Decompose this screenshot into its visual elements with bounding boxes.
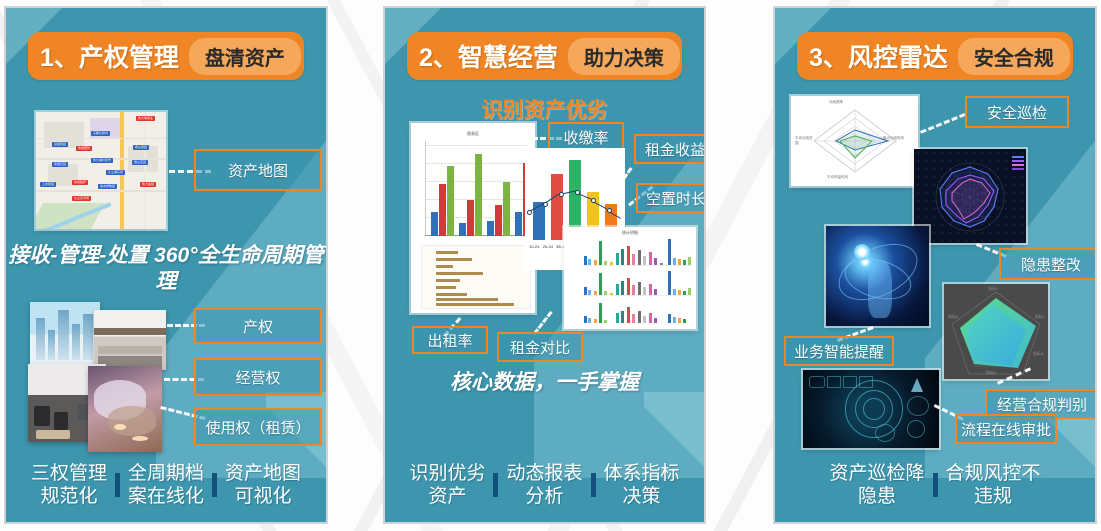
- panel-3-footer: 资产巡检降 隐患 合规风控不 违规: [775, 462, 1095, 508]
- callout-rent-comparison-label: 租金对比: [510, 337, 570, 358]
- callout-rent-comparison[interactable]: 租金对比: [497, 332, 583, 362]
- callout-vacancy-duration[interactable]: 空置时长: [636, 183, 706, 213]
- callout-smart-reminder-label: 业务智能提醒: [794, 341, 884, 362]
- panel-risk-control-radar[interactable]: 3、风控雷达 安全合规 动用频率 最近动用时间 平均动用范围 平均停: [773, 6, 1097, 524]
- dark-radar-chart[interactable]: [914, 149, 1026, 243]
- panel-2-tag: 助力决策: [568, 38, 680, 75]
- shopping-mall-photo[interactable]: [88, 366, 162, 452]
- city-skyline-photo[interactable]: [30, 302, 100, 370]
- grouped-bar-chart-card[interactable]: 图表区: [411, 123, 535, 313]
- chart-title: 统计明细: [564, 230, 696, 236]
- callout-online-process-approval[interactable]: 流程在线审批: [955, 414, 1057, 444]
- panel-2-title: 2、智慧经营: [419, 38, 558, 74]
- callout-hazard-rectification[interactable]: 隐患整改: [999, 248, 1097, 280]
- callout-asset-map[interactable]: 资产地图: [194, 149, 322, 191]
- callout-safety-inspection-label: 安全巡检: [987, 102, 1047, 123]
- callout-vacancy-duration-label: 空置时长: [646, 188, 706, 209]
- panel-2-slogan: 核心数据，一手掌握: [385, 370, 704, 396]
- callout-collection-rate-label: 收缴率: [563, 127, 608, 148]
- multi-panel-bar-chart[interactable]: 统计明细: [564, 227, 696, 329]
- panel-1-footer: 三权管理 规范化 全周期档 案在线化 资产地图 可视化: [6, 462, 326, 508]
- radar-svg: [914, 149, 1026, 243]
- panel-3-tag: 安全合规: [958, 38, 1070, 75]
- office-interior-photo[interactable]: [94, 310, 166, 370]
- footer-item: 资产巡检降 隐患: [821, 462, 932, 508]
- light-radar-chart[interactable]: 动用频率 最近动用时间 平均动用范围 平均停留时间: [791, 96, 918, 186]
- callout-rent-income-label: 租金收益: [645, 139, 705, 160]
- asset-map-thumbnail[interactable]: 富丽家园 鲁成赛列 东郡红树湾 鲁大地商业 君山豪园 鲁大湖州壹号 家居花园 君…: [36, 112, 166, 229]
- callout-asset-map-label: 资产地图: [228, 160, 288, 181]
- callout-safety-inspection[interactable]: 安全巡检: [965, 96, 1069, 128]
- callout-online-approval-label: 流程在线审批: [961, 419, 1051, 440]
- footer-item: 合规风控不 违规: [938, 462, 1049, 508]
- callout-occupancy-rate[interactable]: 出租率: [412, 326, 488, 354]
- radar-svg: [810, 106, 900, 176]
- callout-property-right[interactable]: 产权: [194, 308, 322, 344]
- callout-usage-right[interactable]: 使用权（租赁）: [194, 408, 322, 446]
- footer-item: 识别优劣 资产: [401, 462, 493, 508]
- footer-item: 体系指标 决策: [596, 462, 688, 508]
- gradient-radar-chart[interactable]: 指标1 指标2 指标3 指标4 指标5: [944, 284, 1048, 379]
- panel-2-header: 2、智慧经营 助力决策: [407, 32, 682, 80]
- panel-2-footer: 识别优劣 资产 动态报表 分析 体系指标 决策: [385, 462, 704, 508]
- footer-item: 资产地图 可视化: [217, 462, 309, 508]
- callout-operation-right[interactable]: 经营权: [194, 358, 322, 396]
- callout-operation-right-label: 经营权: [235, 367, 280, 388]
- radar-hud-photo[interactable]: [803, 370, 939, 448]
- panel-1-header: 1、产权管理 盘清资产: [28, 32, 304, 80]
- callout-hazard-rectification-label: 隐患整改: [1021, 254, 1081, 275]
- footer-item: 动态报表 分析: [498, 462, 590, 508]
- callout-usage-right-label: 使用权（租赁）: [205, 417, 310, 438]
- footer-item: 全周期档 案在线化: [120, 462, 212, 508]
- panel-smart-operations[interactable]: 2、智慧经营 助力决策 识别资产优劣 图表区: [383, 6, 706, 524]
- radar-svg: [944, 284, 1048, 379]
- leader-line-safety-inspection: [920, 113, 966, 134]
- panel-1-slogan: 接收-管理-处置 360°全生命周期管理: [6, 243, 326, 296]
- callout-rent-income[interactable]: 租金收益: [634, 134, 706, 164]
- footer-item: 三权管理 规范化: [23, 462, 115, 508]
- panel-3-header: 3、风控雷达 安全合规: [797, 32, 1073, 80]
- slide-deck: 1、产权管理 盘清资产 富丽家园 鲁成赛列 东郡红树湾 鲁大地商业 君山豪园 鲁…: [0, 0, 1101, 531]
- panel-2-subtitle: 识别资产优劣: [385, 94, 704, 124]
- callout-compliance-label: 经营合规判别: [997, 394, 1087, 415]
- panel-1-tag: 盘清资产: [189, 38, 301, 75]
- panel-3-title: 3、风控雷达: [809, 38, 948, 74]
- callout-property-right-label: 产权: [243, 316, 273, 337]
- chart-title: 图表区: [411, 131, 535, 137]
- callout-business-smart-reminder[interactable]: 业务智能提醒: [784, 336, 894, 366]
- panel-1-title: 1、产权管理: [40, 38, 179, 74]
- callout-occupancy-rate-label: 出租率: [427, 330, 472, 351]
- panel-property-management[interactable]: 1、产权管理 盘清资产 富丽家园 鲁成赛列 东郡红树湾 鲁大地商业 君山豪园 鲁…: [4, 6, 328, 524]
- ai-robot-photo[interactable]: [826, 226, 929, 326]
